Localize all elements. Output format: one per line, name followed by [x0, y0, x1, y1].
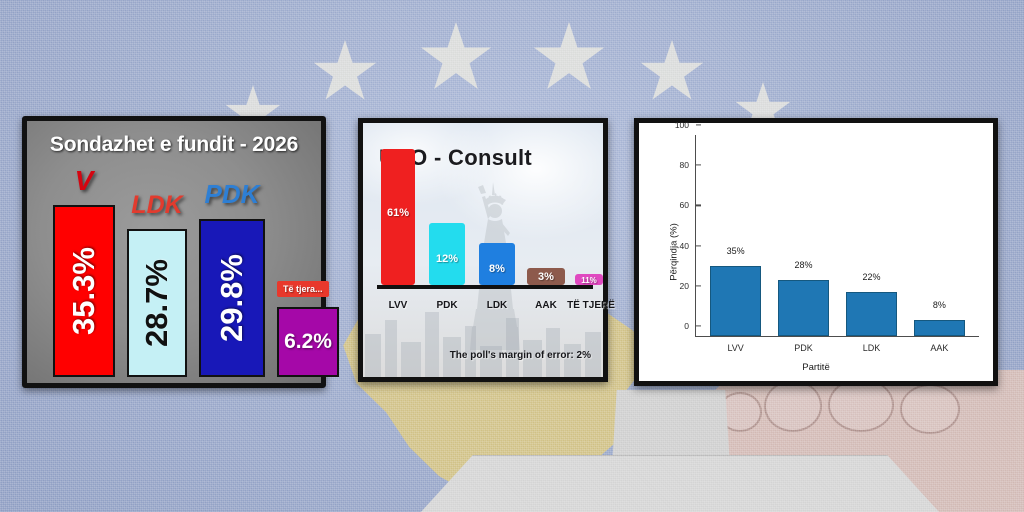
- other-badge[interactable]: Të tjera...: [277, 281, 329, 297]
- bar-value-other: 6.2%: [284, 330, 332, 354]
- mpl-figure: Përqindja (%) Partitë 0 20 40 60 80 100 …: [639, 123, 993, 381]
- panel-mid-axis-line: [377, 285, 593, 289]
- bar-ldk[interactable]: 28.7%: [127, 229, 187, 377]
- panel-upo-consult[interactable]: UPO - Consult 61% 12% 8% 3% 11% LVV PDK …: [358, 118, 608, 382]
- bar-pdk[interactable]: 12%: [429, 223, 465, 285]
- poll-infographic-canvas: Sondazhet e fundit - 2026 V 35.3% LDK 28…: [0, 0, 1024, 512]
- mpl-xtick-aak: AAK: [930, 336, 948, 353]
- bar-other[interactable]: 6.2%: [277, 307, 339, 377]
- margin-of-error-note: The poll's margin of error: 2%: [450, 350, 591, 361]
- mpl-axes: 0 20 40 60 80 100 35% 28% 22% 8% LVV PDK: [695, 135, 979, 337]
- bar-value-aak: 3%: [538, 271, 554, 283]
- bar-value-lvv: 61%: [387, 207, 409, 219]
- xtick-pdk: PDK: [425, 300, 469, 311]
- logo-pdk: PDK: [199, 179, 265, 210]
- mpl-ytick-40: 40: [680, 241, 696, 251]
- xtick-te-tjere: TË TJERË: [561, 300, 621, 311]
- bar-value-ldk: 8%: [489, 263, 505, 275]
- mpl-bar-ldk[interactable]: [846, 292, 897, 336]
- bar-lvv[interactable]: 61%: [381, 149, 415, 285]
- panel-sondazhet-e-fundit[interactable]: Sondazhet e fundit - 2026 V 35.3% LDK 28…: [22, 116, 326, 388]
- mpl-x-axis-label: Partitë: [802, 362, 829, 373]
- bar-column-ldk[interactable]: LDK 28.7%: [127, 229, 187, 377]
- mpl-ytick-20: 20: [680, 281, 696, 291]
- panel-matplotlib-chart[interactable]: Përqindja (%) Partitë 0 20 40 60 80 100 …: [634, 118, 998, 386]
- bar-aak[interactable]: 3%: [527, 268, 565, 285]
- bar-value-vv: 35.3%: [66, 247, 102, 335]
- mpl-xtick-ldk: LDK: [863, 336, 881, 353]
- mpl-ytick-80: 80: [680, 160, 696, 170]
- logo-ldk: LDK: [127, 191, 187, 220]
- mpl-ytick-60: 60: [680, 200, 696, 210]
- bar-column-other[interactable]: Të tjera... 6.2%: [277, 307, 339, 377]
- mpl-bar-label-pdk: 28%: [795, 260, 813, 270]
- panel-left-title: Sondazhet e fundit - 2026: [27, 133, 321, 157]
- mpl-bar-aak[interactable]: [914, 320, 965, 336]
- mpl-bar-label-lvv: 35%: [727, 246, 745, 256]
- xtick-lvv: LVV: [377, 300, 419, 311]
- mpl-xtick-pdk: PDK: [794, 336, 813, 353]
- bar-vv[interactable]: 35.3%: [53, 205, 115, 377]
- mpl-bar-label-aak: 8%: [933, 300, 946, 310]
- mpl-y-axis-label: Përqindja (%): [668, 223, 679, 281]
- bar-column-pdk[interactable]: PDK 29.8%: [199, 219, 265, 377]
- panel-left-plot: V 35.3% LDK 28.7% PDK 29.8%: [41, 167, 311, 377]
- mpl-bar-pdk[interactable]: [778, 280, 829, 336]
- bar-value-pdk: 12%: [436, 253, 458, 265]
- mpl-bar-lvv[interactable]: [710, 266, 761, 336]
- bar-value-pdk: 29.8%: [214, 254, 250, 342]
- mpl-ytick-0: 0: [684, 321, 696, 331]
- mpl-ytick-100: 100: [675, 120, 696, 130]
- bar-value-ldk: 28.7%: [139, 259, 175, 347]
- bar-pdk[interactable]: 29.8%: [199, 219, 265, 377]
- logo-vv: V: [53, 165, 115, 197]
- xtick-ldk: LDK: [475, 300, 519, 311]
- bar-value-te-tjere: 11%: [581, 276, 597, 285]
- bar-te-tjere[interactable]: 11%: [575, 274, 603, 285]
- mpl-xtick-lvv: LVV: [727, 336, 743, 353]
- bar-ldk[interactable]: 8%: [479, 243, 515, 285]
- bar-column-vv[interactable]: V 35.3%: [53, 205, 115, 377]
- mpl-bar-label-ldk: 22%: [862, 272, 880, 282]
- panel-mid-plot: 61% 12% 8% 3% 11% LVV PDK LDK AAK TË TJE…: [375, 181, 595, 329]
